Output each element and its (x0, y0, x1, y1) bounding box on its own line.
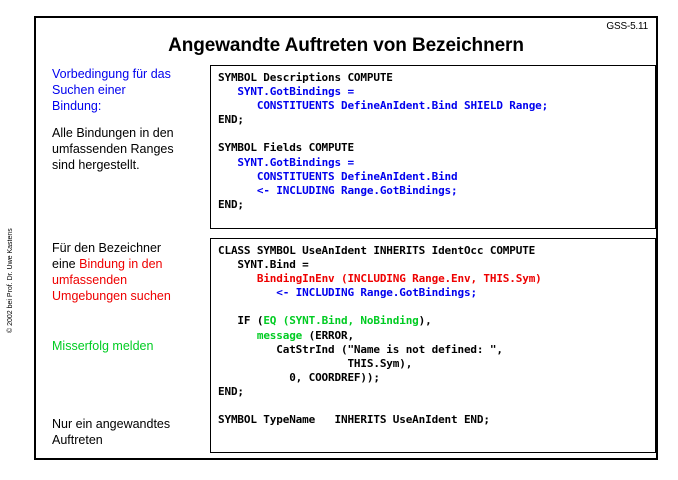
code-token: IF ( (218, 314, 263, 327)
note-line: Für den Bezeichner (52, 241, 161, 255)
code-content: SYMBOL Descriptions COMPUTE SYNT.GotBind… (218, 71, 649, 212)
code-line (218, 399, 649, 413)
code-line: IF (EQ (SYNT.Bind, NoBinding), (218, 314, 649, 328)
code-token: SYNT.GotBindings = (237, 85, 354, 98)
note-line: Bindung in den (79, 257, 162, 271)
code-token: message (257, 329, 302, 342)
code-token: SYNT.Bind = (218, 258, 309, 271)
code-token: CONSTITUENTS DefineAnIdent.Bind SHIELD R… (257, 99, 548, 112)
note-single-occurrence: Nur ein angewandtes Auftreten (52, 416, 204, 448)
code-token: SYMBOL Descriptions COMPUTE (218, 71, 393, 84)
code-token: SYMBOL TypeName INHERITS UseAnIdent END; (218, 413, 490, 426)
note-line: Misserfolg melden (52, 339, 153, 353)
code-block-bindings: SYMBOL Descriptions COMPUTE SYNT.GotBind… (210, 65, 656, 229)
code-line: CONSTITUENTS DefineAnIdent.Bind (218, 170, 649, 184)
code-line: <- INCLUDING Range.GotBindings; (218, 184, 649, 198)
code-line: SYMBOL Fields COMPUTE (218, 141, 649, 155)
code-token: SYMBOL Fields COMPUTE (218, 141, 354, 154)
code-line: SYMBOL Descriptions COMPUTE (218, 71, 649, 85)
note-line: eine (52, 257, 79, 271)
code-token (218, 156, 237, 169)
code-token (218, 85, 237, 98)
code-token (218, 272, 257, 285)
code-token: END; (218, 385, 244, 398)
code-token (218, 329, 257, 342)
copyright-notice: © 2002 bei Prof. Dr. Uwe Kastens (7, 203, 14, 333)
code-line: CatStrInd ("Name is not defined: ", (218, 343, 649, 357)
code-line: SYNT.GotBindings = (218, 156, 649, 170)
code-line: SYNT.Bind = (218, 258, 649, 272)
note-line: Suchen einer (52, 83, 126, 97)
code-line: CLASS SYMBOL UseAnIdent INHERITS IdentOc… (218, 244, 649, 258)
code-token (218, 99, 257, 112)
code-token: 0, COORDREF)); (218, 371, 380, 384)
page-title: Angewandte Auftreten von Bezeichnern (36, 35, 656, 57)
code-line: END; (218, 198, 649, 212)
code-line: THIS.Sym), (218, 357, 649, 371)
note-line: umfassenden (52, 273, 127, 287)
code-line: END; (218, 385, 649, 399)
note-line: Auftreten (52, 433, 103, 447)
code-token (218, 184, 257, 197)
code-token: EQ (SYNT.Bind, NoBinding (263, 314, 418, 327)
code-token: BindingInEnv (INCLUDING Range.Env, THIS.… (257, 272, 542, 285)
code-line: message (ERROR, (218, 329, 649, 343)
code-token: CLASS SYMBOL UseAnIdent INHERITS IdentOc… (218, 244, 535, 257)
code-line: BindingInEnv (INCLUDING Range.Env, THIS.… (218, 272, 649, 286)
code-token: CatStrInd ("Name is not defined: ", (218, 343, 503, 356)
code-content: CLASS SYMBOL UseAnIdent INHERITS IdentOc… (218, 244, 649, 427)
code-line: 0, COORDREF)); (218, 371, 649, 385)
code-token: END; (218, 113, 244, 126)
code-token: ), (419, 314, 432, 327)
note-line: sind hergestellt. (52, 158, 140, 172)
code-line: END; (218, 113, 649, 127)
code-line: SYNT.GotBindings = (218, 85, 649, 99)
code-token: (ERROR, (302, 329, 354, 342)
code-line (218, 300, 649, 314)
note-search-binding: Für den Bezeichner eine Bindung in den u… (52, 240, 204, 304)
note-line: Umgebungen suchen (52, 289, 171, 303)
code-token (218, 286, 276, 299)
note-precondition: Vorbedingung für das Suchen einer Bindun… (52, 66, 204, 173)
slide-frame: GSS-5.11 Angewandte Auftreten von Bezeic… (34, 16, 658, 460)
note-line: Nur ein angewandtes (52, 417, 170, 431)
code-token: <- INCLUDING Range.GotBindings; (276, 286, 477, 299)
code-line (218, 127, 649, 141)
code-token: END; (218, 198, 244, 211)
note-report-failure: Misserfolg melden (52, 338, 204, 354)
code-token: SYNT.GotBindings = (237, 156, 354, 169)
note-line: Bindung: (52, 99, 101, 113)
code-line: <- INCLUDING Range.GotBindings; (218, 286, 649, 300)
note-line: umfassenden Ranges (52, 142, 174, 156)
code-line: SYMBOL TypeName INHERITS UseAnIdent END; (218, 413, 649, 427)
code-token: <- INCLUDING Range.GotBindings; (257, 184, 458, 197)
slide-id-label: GSS-5.11 (606, 21, 648, 32)
note-line: Vorbedingung für das (52, 67, 171, 81)
note-line: Alle Bindungen in den (52, 126, 174, 140)
code-line: CONSTITUENTS DefineAnIdent.Bind SHIELD R… (218, 99, 649, 113)
code-block-useanident: CLASS SYMBOL UseAnIdent INHERITS IdentOc… (210, 238, 656, 453)
code-token (218, 170, 257, 183)
code-token: CONSTITUENTS DefineAnIdent.Bind (257, 170, 458, 183)
code-token: THIS.Sym), (218, 357, 412, 370)
